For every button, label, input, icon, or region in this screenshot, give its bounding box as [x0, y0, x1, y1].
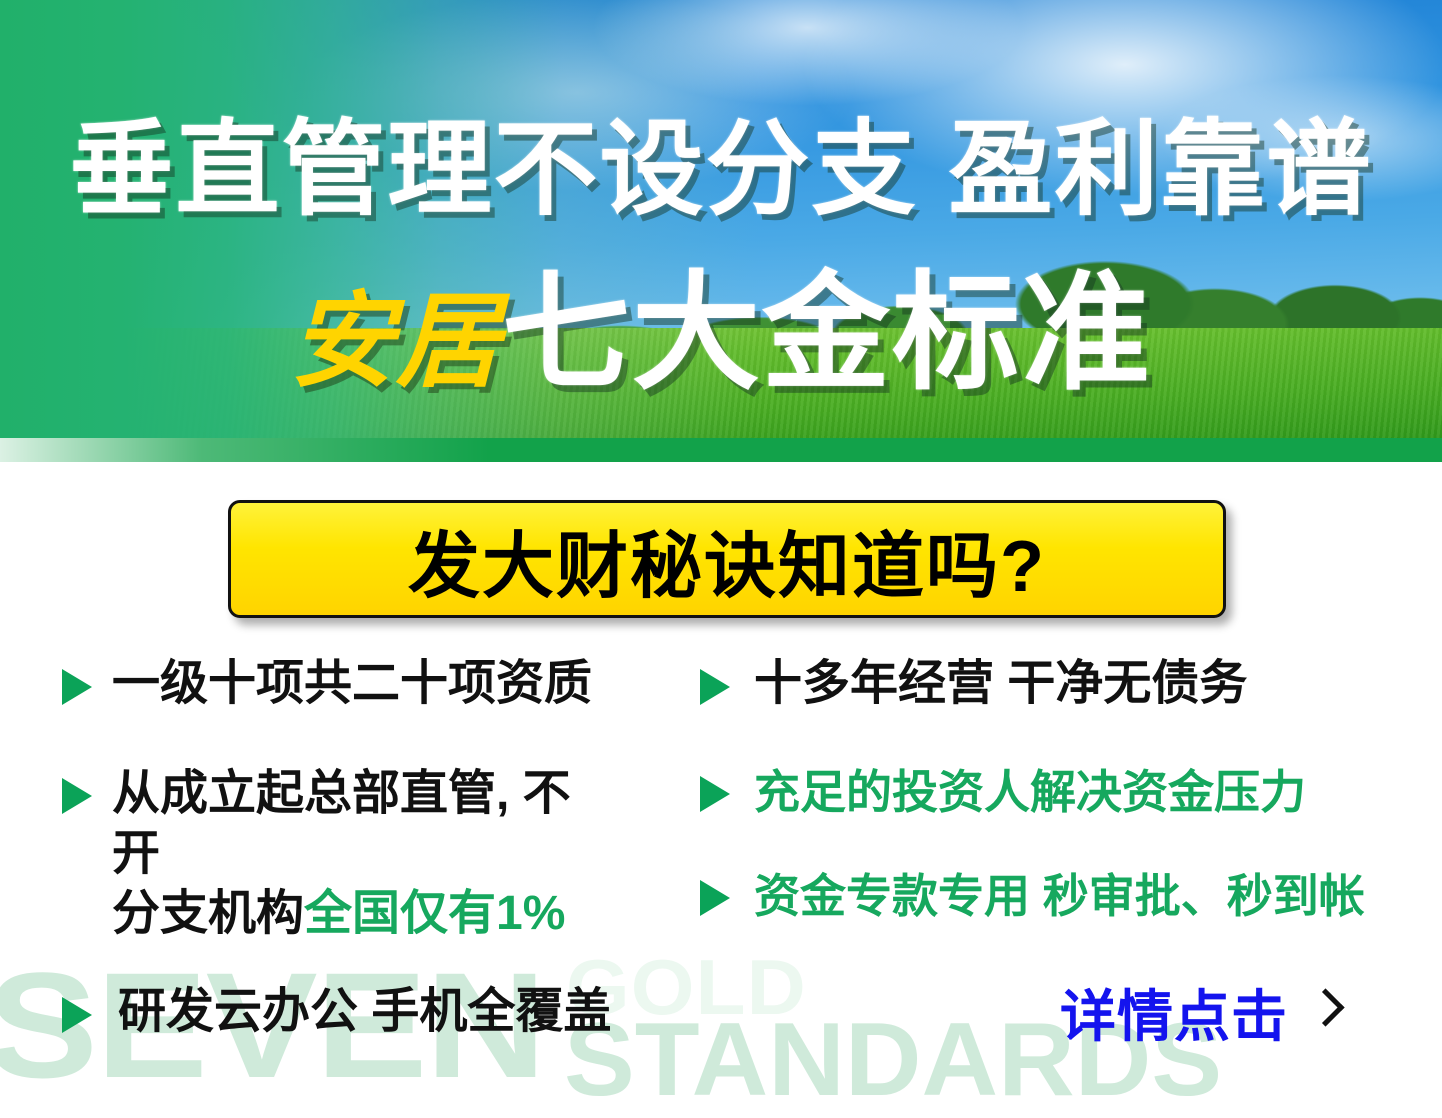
- hero-headline-secondary: 安居七大金标准: [0, 270, 1442, 398]
- triangle-right-icon: [62, 669, 92, 705]
- list-item-label: 从成立起总部直管, 不开分支机构全国仅有1%: [112, 764, 612, 945]
- list-item-label: 资金专款专用 秒审批、秒到帐: [754, 868, 1365, 924]
- headline-banner-text: 发大财秘诀知道吗?: [408, 507, 1046, 612]
- triangle-right-icon: [700, 880, 730, 916]
- hero-headline-primary: 垂直管理不设分支 盈利靠谱: [0, 118, 1442, 222]
- feature-list: 一级十项共二十项资质 从成立起总部直管, 不开分支机构全国仅有1% 研发云办公 …: [0, 655, 1442, 995]
- list-item: 从成立起总部直管, 不开分支机构全国仅有1%: [62, 764, 702, 945]
- list-item: 研发云办公 手机全覆盖: [62, 983, 702, 1042]
- list-item-label: 十多年经营 干净无债务: [754, 655, 1247, 714]
- list-item-label: 研发云办公 手机全覆盖: [118, 983, 611, 1042]
- triangle-right-icon: [62, 997, 92, 1033]
- details-cta-link[interactable]: 详情点击: [1060, 972, 1336, 1053]
- list-item-line1: 从成立起总部直管, 不开: [112, 767, 571, 880]
- hero-headline-gold-text: 安居: [290, 284, 502, 400]
- hero-headline-white-text: 七大金标准: [502, 262, 1152, 405]
- list-item-label: 一级十项共二十项资质: [112, 655, 592, 714]
- list-item: 资金专款专用 秒审批、秒到帐: [700, 868, 1420, 924]
- list-item-line2-highlight: 全国仅有1%: [304, 887, 565, 940]
- list-item-label: 充足的投资人解决资金压力: [754, 764, 1306, 820]
- list-item-line2-black: 分支机构: [112, 887, 304, 940]
- hero-band-fade: [0, 438, 1442, 462]
- triangle-right-icon: [700, 776, 730, 812]
- headline-banner[interactable]: 发大财秘诀知道吗?: [228, 500, 1226, 618]
- feature-column-left: 一级十项共二十项资质 从成立起总部直管, 不开分支机构全国仅有1% 研发云办公 …: [62, 655, 702, 1042]
- hero-banner: 垂直管理不设分支 盈利靠谱 安居七大金标准: [0, 0, 1442, 462]
- list-item: 充足的投资人解决资金压力: [700, 764, 1420, 820]
- list-item: 十多年经营 干净无债务: [700, 655, 1420, 714]
- details-cta-label: 详情点击: [1060, 972, 1288, 1053]
- feature-column-right: 十多年经营 干净无债务 充足的投资人解决资金压力 资金专款专用 秒审批、秒到帐: [700, 655, 1420, 924]
- triangle-right-icon: [700, 669, 730, 705]
- chevron-right-icon: [1310, 990, 1336, 1036]
- list-item: 一级十项共二十项资质: [62, 655, 702, 714]
- triangle-right-icon: [62, 778, 92, 814]
